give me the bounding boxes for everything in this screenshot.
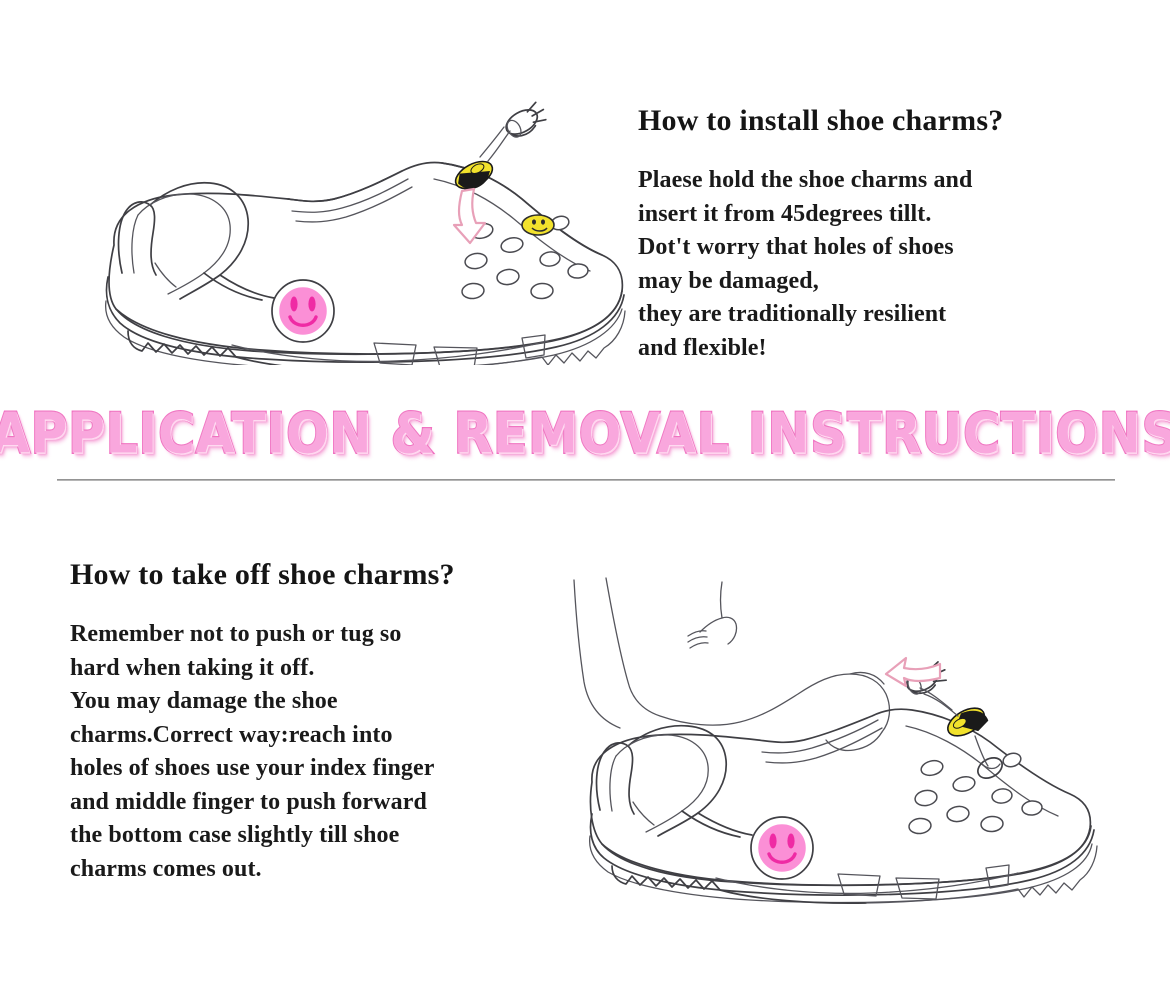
removal-line-7: the bottom case slightly till shoe (70, 819, 580, 853)
banner-title: APPLICATION & REMOVAL INSTRUCTIONS (0, 398, 1170, 471)
install-line-5: they are traditionally resilient (638, 298, 1138, 332)
charm-plug-exiting (974, 754, 1006, 783)
removal-arrow (886, 658, 940, 686)
removal-line-4: charms.Correct way:reach into (70, 719, 580, 753)
vent-holes-bottom (908, 751, 1042, 834)
removal-line-6: and middle finger to push forward (70, 786, 580, 820)
install-line-4: may be damaged, (638, 265, 1138, 299)
removal-line-8: charms comes out. (70, 853, 580, 887)
section-divider (57, 479, 1115, 481)
install-line-3: Dot't worry that holes of shoes (638, 231, 1138, 265)
removal-section: How to take off shoe charms? Remember no… (70, 558, 580, 886)
clog-shoe-install-illustration (42, 95, 632, 365)
pink-smiley-charm-bottom (757, 823, 807, 873)
hand-illustration (574, 578, 889, 751)
yellow-charm-installed (522, 215, 554, 235)
banner: APPLICATION & REMOVAL INSTRUCTIONS (0, 404, 1170, 466)
charm-plug-outline (502, 101, 550, 142)
removal-line-1: Remember not to push or tug so (70, 618, 580, 652)
removal-line-3: You may damage the shoe (70, 685, 580, 719)
install-section: How to install shoe charms? Plaese hold … (638, 104, 1138, 365)
clog-shoe-removal-illustration (520, 570, 1160, 920)
removal-heading: How to take off shoe charms? (70, 558, 580, 592)
install-diagram-svg (42, 95, 632, 365)
install-heading: How to install shoe charms? (638, 104, 1138, 138)
install-line-2: insert it from 45degrees tillt. (638, 198, 1138, 232)
install-line-1: Plaese hold the shoe charms and (638, 164, 1138, 198)
install-body: Plaese hold the shoe charms and insert i… (638, 164, 1138, 365)
pink-smiley-charm-top (278, 286, 328, 336)
removal-line-5: holes of shoes use your index finger (70, 752, 580, 786)
removal-diagram-svg (520, 570, 1160, 920)
instruction-poster: How to install shoe charms? Plaese hold … (0, 0, 1170, 1004)
removal-line-2: hard when taking it off. (70, 652, 580, 686)
install-line-6: and flexible! (638, 332, 1138, 366)
removal-body: Remember not to push or tug so hard when… (70, 618, 580, 886)
